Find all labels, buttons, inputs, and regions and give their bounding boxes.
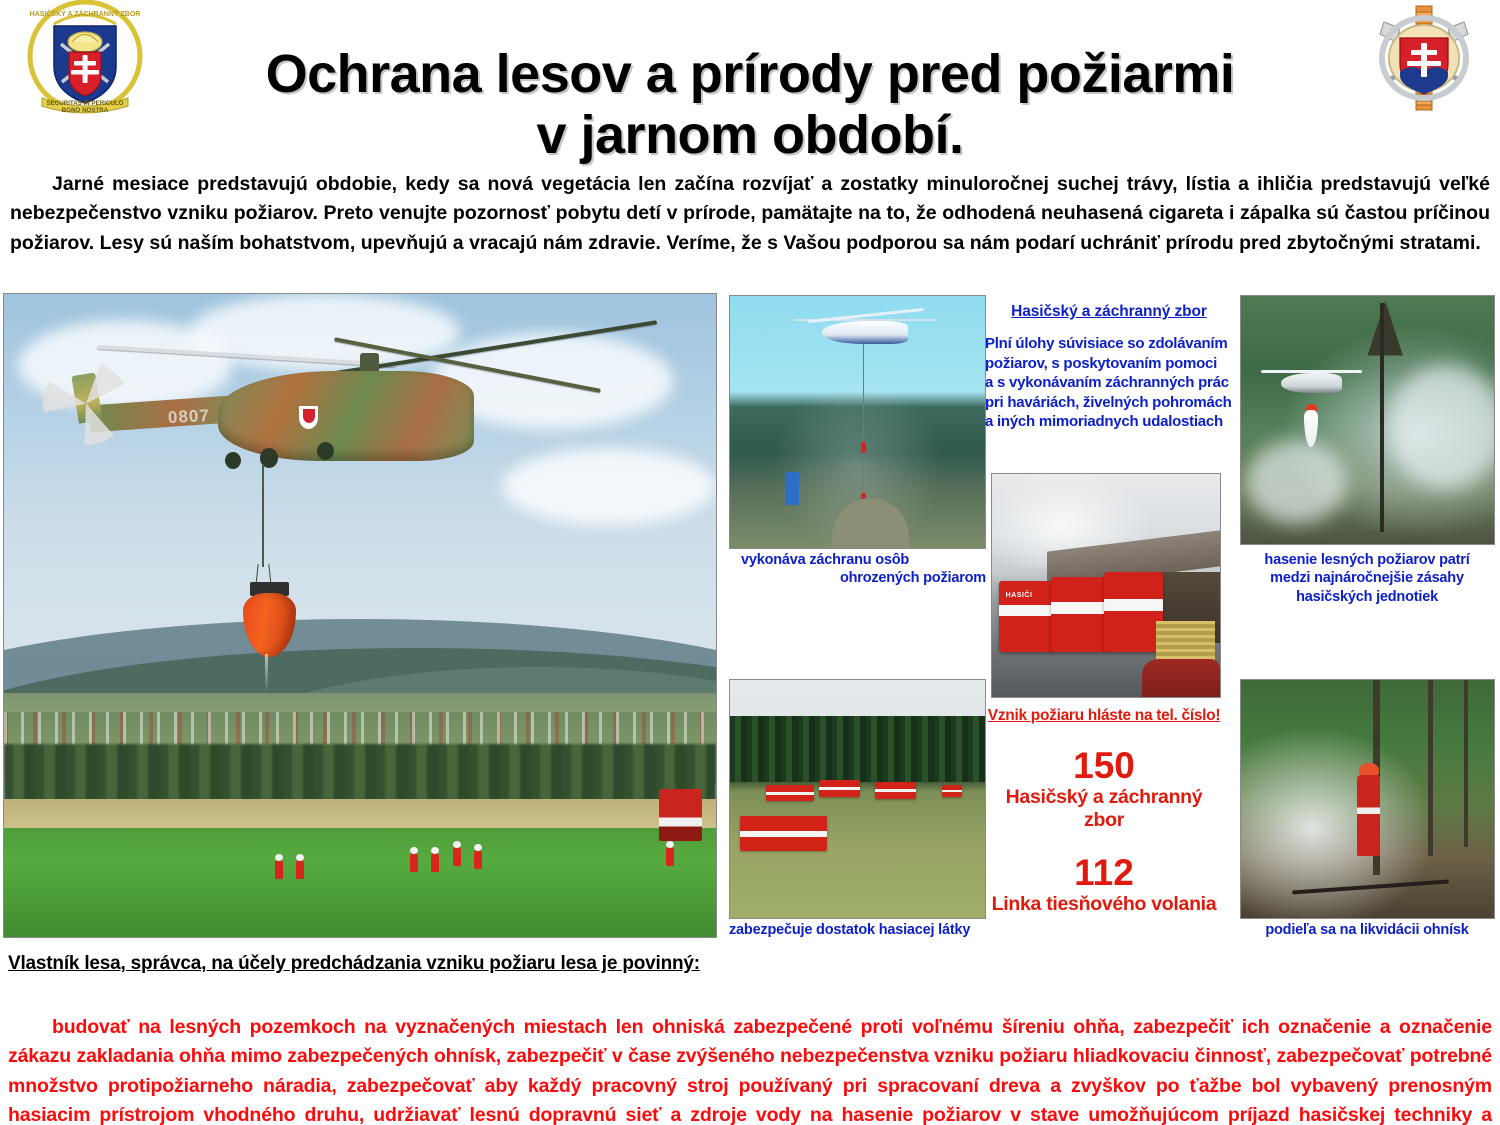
tree-trunk bbox=[1464, 680, 1468, 847]
emergency-label-150: Hasičský a záchranný zbor bbox=[985, 786, 1223, 832]
info-line: a iných mimoriadnych udalostiach bbox=[985, 412, 1233, 432]
fire-brigade-info-block: Hasičský a záchranný zbor Plní úlohy súv… bbox=[985, 303, 1233, 432]
caption-forest-fire: hasenie lesných požiarov patrí medzi naj… bbox=[1238, 551, 1496, 606]
smoke-plume bbox=[1388, 365, 1495, 489]
firefighter-crew-member bbox=[410, 853, 418, 872]
firefighter-crew-member bbox=[431, 853, 439, 872]
fire-brigade-info-body: Plní úlohy súvisiace so zdolávaním požia… bbox=[985, 334, 1233, 432]
emergency-numbers-block: Vznik požiaru hláste na tel. číslo! 150 … bbox=[985, 707, 1223, 916]
fire-engine bbox=[1104, 572, 1163, 652]
fire-truck bbox=[875, 782, 916, 799]
hasicsky-a-zachranny-zbor-crest-icon: HASIČSKÝ A ZÁCHRANNÝ ZBOR SECURITAS IN P… bbox=[24, 0, 146, 116]
emergency-number-150: 150 bbox=[985, 747, 1223, 784]
red-car bbox=[1142, 659, 1220, 697]
caption-line: medzi najnáročnejšie zásahy bbox=[1238, 569, 1496, 587]
green-field bbox=[4, 828, 716, 937]
svg-text:SECURITAS IN PERICULO: SECURITAS IN PERICULO bbox=[47, 100, 124, 107]
white-helicopter bbox=[1281, 373, 1342, 393]
photo-gallery: 0807 bbox=[0, 293, 1500, 943]
helicopter-tail-number: 0807 bbox=[167, 405, 210, 427]
fire-engine-marking: HASIČI bbox=[1006, 592, 1033, 599]
firefighter-crew-member bbox=[666, 847, 674, 866]
caption-firefighter: podieľa sa na likvidácii ohnísk bbox=[1238, 921, 1496, 939]
firefighter-extinguishing-smoke-photo bbox=[1240, 679, 1495, 919]
fire-prevention-poster: HASIČSKÝ A ZÁCHRANNÝ ZBOR SECURITAS IN P… bbox=[0, 0, 1500, 1125]
intro-paragraph: Jarné mesiace predstavujú obdobie, kedy … bbox=[10, 170, 1490, 259]
fire-hose bbox=[1292, 879, 1449, 894]
fire-trucks-scene bbox=[730, 680, 985, 918]
owner-duty-body: budovať na lesných pozemkoch na vyznačen… bbox=[8, 1013, 1492, 1125]
spacer bbox=[985, 832, 1223, 854]
title-line-1: Ochrana lesov a prírody pred požiarmi bbox=[266, 44, 1235, 104]
caption-line: zabezpečuje dostatok hasiacej látky bbox=[729, 921, 991, 939]
burning-building-fire-engines-photo: HASIČI bbox=[991, 473, 1221, 698]
info-line: požiarov, s poskytovaním pomoci bbox=[985, 354, 1233, 374]
suspension-cable bbox=[262, 464, 264, 567]
fire-trucks-in-field-photo bbox=[729, 679, 986, 919]
info-line: a s vykonávaním záchranných prác bbox=[985, 373, 1233, 393]
caption-line: hasenie lesných požiarov patrí bbox=[1238, 551, 1496, 569]
info-line: Plní úlohy súvisiace so zdolávaním bbox=[985, 334, 1233, 354]
tail-rotor bbox=[43, 362, 128, 446]
tree-trunk bbox=[1428, 680, 1433, 856]
helicopter-mountain-rescue-photo bbox=[729, 295, 986, 549]
forest-fire-scene bbox=[1241, 296, 1494, 544]
helicopter-with-bambi-bucket-photo: 0807 bbox=[3, 293, 717, 938]
slovak-firefighter-emblem-icon bbox=[1366, 2, 1482, 114]
landing-wheel bbox=[225, 452, 241, 469]
fire-truck bbox=[942, 785, 962, 797]
caption-line: ohrozených požiarom bbox=[729, 569, 986, 587]
smouldering-forest-scene bbox=[1241, 680, 1494, 918]
rescuer-on-rope bbox=[861, 442, 866, 453]
svg-text:HASIČSKÝ A ZÁCHRANNÝ ZBOR: HASIČSKÝ A ZÁCHRANNÝ ZBOR bbox=[30, 9, 141, 18]
helicopter-fuselage bbox=[218, 371, 474, 461]
water-drip bbox=[265, 654, 268, 693]
fire-brigade-info-title: Hasičský a záchranný zbor bbox=[985, 303, 1233, 321]
dead-tree-top bbox=[1368, 301, 1403, 356]
cloud bbox=[502, 448, 716, 525]
page-title: Ochrana lesov a prírody pred požiarmi v … bbox=[170, 44, 1330, 166]
smoke-plume bbox=[1246, 440, 1347, 524]
dead-tree-trunk bbox=[1380, 303, 1384, 531]
caption-rescue: vykonáva záchranu osôb ohrozených požiar… bbox=[729, 551, 986, 588]
blue-banner bbox=[786, 472, 799, 505]
firefighter-crew-member bbox=[275, 860, 283, 879]
caption-line: hasičských jednotiek bbox=[1238, 588, 1496, 606]
fire-truck-foreground bbox=[740, 816, 827, 852]
helicopter-forest-fire-photo bbox=[1240, 295, 1495, 545]
info-line: pri haváriách, živelných pohromách bbox=[985, 393, 1233, 413]
fire-truck bbox=[766, 785, 814, 802]
firefighter-crew-member bbox=[453, 847, 461, 866]
rescue-rope bbox=[863, 344, 865, 490]
dry-field bbox=[4, 799, 716, 831]
pine-forest bbox=[730, 716, 985, 783]
svg-text:BONO NOSTRA: BONO NOSTRA bbox=[62, 107, 109, 114]
owner-duty-heading: Vlastník lesa, správca, na účely predchá… bbox=[8, 953, 700, 975]
white-helicopter bbox=[822, 321, 909, 344]
caption-line: vykonáva záchranu osôb bbox=[729, 551, 986, 569]
rock-outcrop bbox=[832, 498, 909, 548]
building-fire-scene: HASIČI bbox=[992, 474, 1220, 697]
fire-truck bbox=[659, 789, 702, 840]
caption-fire-trucks: zabezpečuje dostatok hasiacej látky bbox=[729, 921, 991, 939]
fire-engine bbox=[1051, 577, 1106, 653]
water-bucket bbox=[1304, 410, 1318, 447]
firefighter-crew-member bbox=[296, 860, 304, 879]
emergency-heading: Vznik požiaru hláste na tel. číslo! bbox=[985, 707, 1223, 725]
title-line-2: v jarnom období. bbox=[170, 105, 1330, 166]
caption-line: podieľa sa na likvidácii ohnísk bbox=[1238, 921, 1496, 939]
poster-header: HASIČSKÝ A ZÁCHRANNÝ ZBOR SECURITAS IN P… bbox=[0, 0, 1500, 148]
emergency-number-112: 112 bbox=[985, 854, 1223, 891]
emergency-label-112: Linka tiesňového volania bbox=[985, 893, 1223, 916]
firefighter bbox=[1357, 775, 1380, 856]
rescue-scene bbox=[730, 296, 985, 548]
firefighter-crew-member bbox=[474, 850, 482, 869]
fire-truck bbox=[819, 780, 860, 797]
helicopter-slovak-crest-icon bbox=[299, 406, 318, 429]
